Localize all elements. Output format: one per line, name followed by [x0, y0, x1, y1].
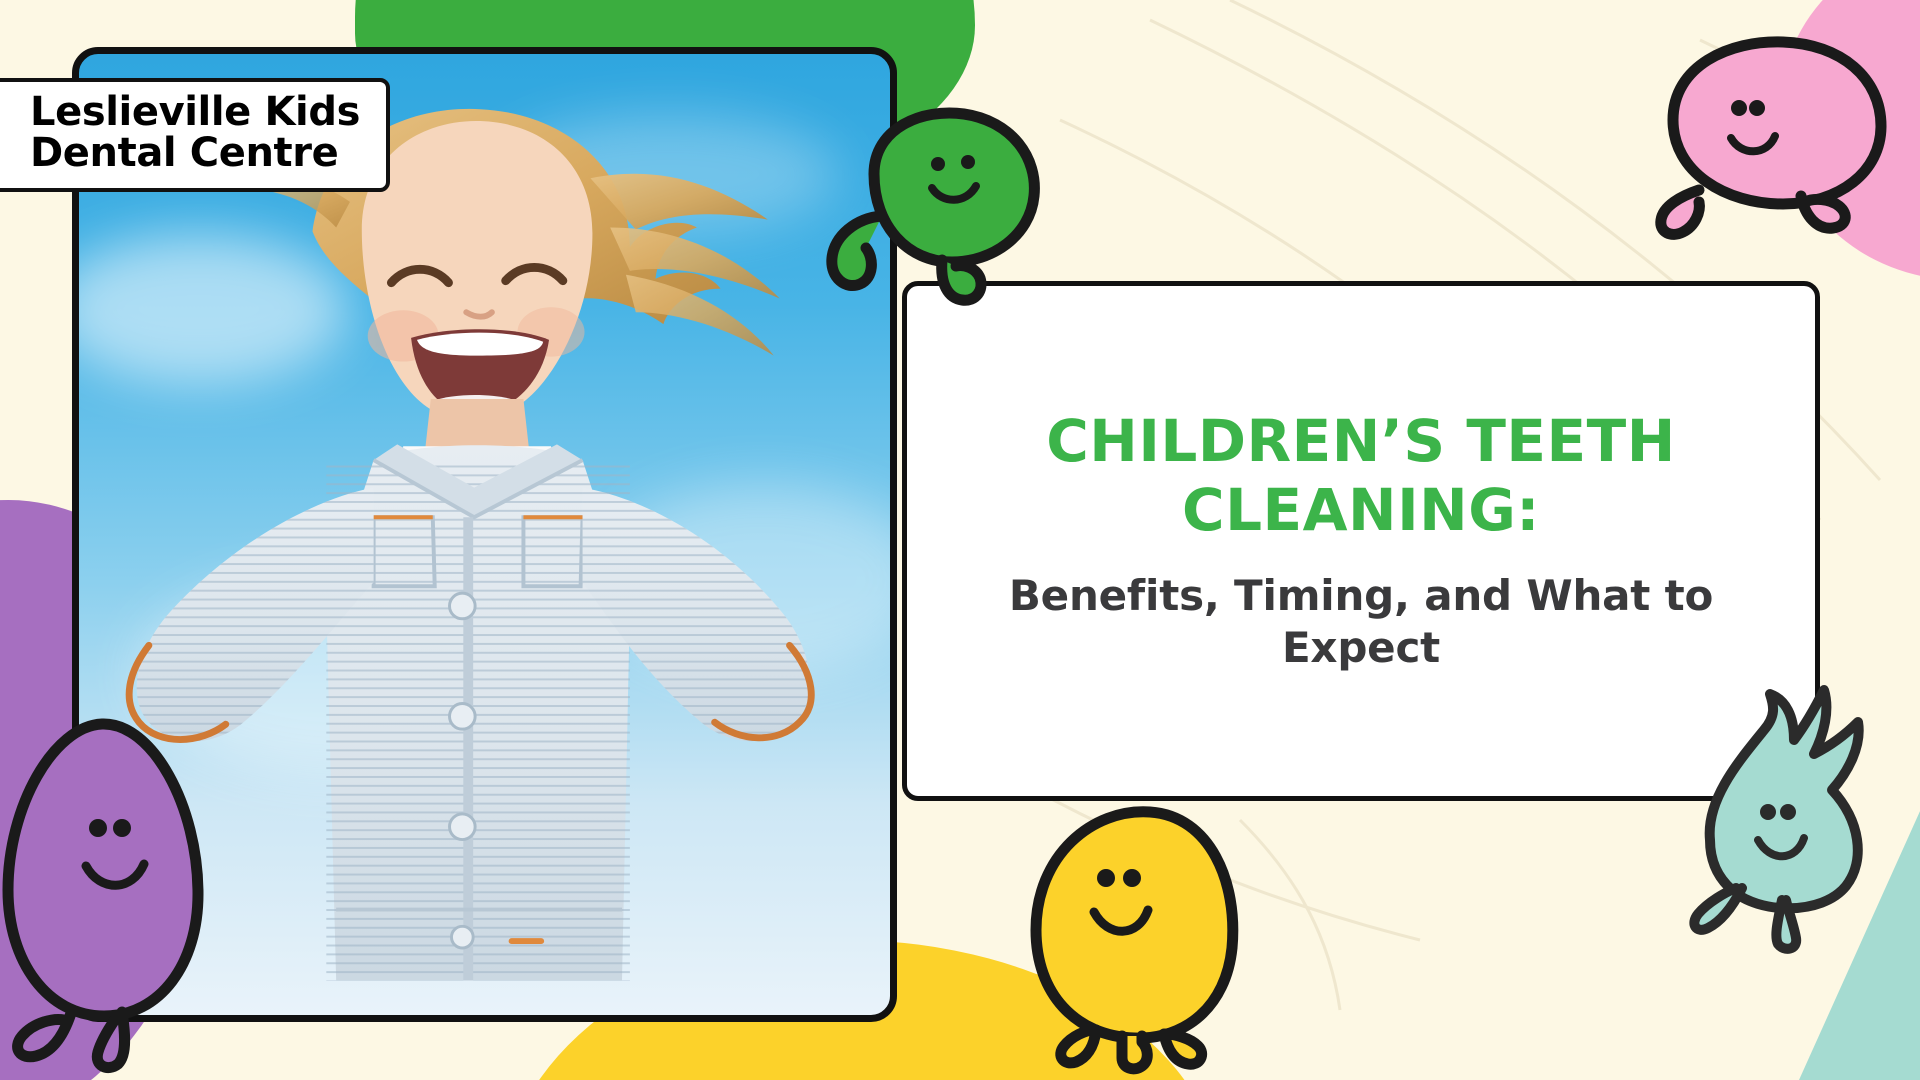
logo-line-2: Dental Centre [30, 133, 360, 174]
logo-line-1: Leslieville Kids [30, 92, 360, 133]
pink-blob-character [1655, 30, 1920, 250]
yellow-blob-character [1010, 790, 1270, 1080]
page-title: CHILDREN’S TEETH CLEANING: [977, 407, 1745, 544]
poster-canvas: Leslieville Kids Dental Centre [0, 0, 1920, 1080]
title-card: CHILDREN’S TEETH CLEANING: Benefits, Tim… [902, 281, 1820, 801]
green-blob-character [816, 100, 1056, 310]
page-subtitle: Benefits, Timing, and What to Expect [977, 570, 1745, 675]
teal-blob-character [1690, 650, 1920, 950]
leslieville-kids-dental-centre-logo[interactable]: Leslieville Kids Dental Centre [0, 78, 390, 192]
purple-blob-character [0, 690, 240, 1070]
